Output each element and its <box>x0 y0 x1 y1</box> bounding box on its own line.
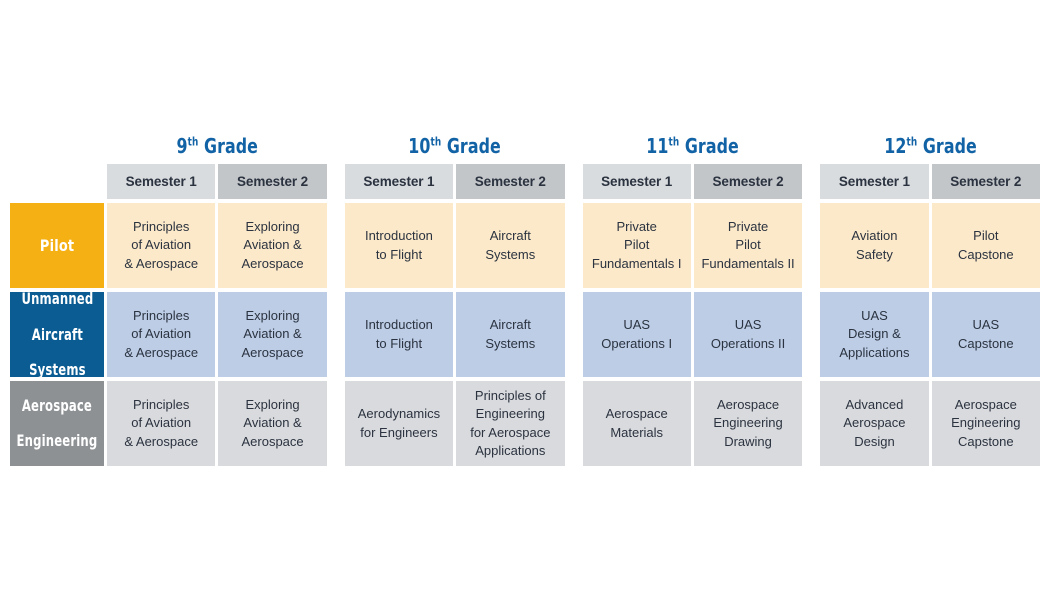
pathway-chart: 9th Grade 10th Grade 11th Grade 12th Gra… <box>0 0 1048 589</box>
semester-header-11-s1: Semester 1 <box>583 164 691 199</box>
track-group-ae-11: Aerospace Materials Aerospace Engineerin… <box>583 381 803 466</box>
grade-ordinal-12: 12 <box>884 134 906 158</box>
track-label-ae-line-1: Aerospace <box>17 397 98 415</box>
track-label-ae-lines: AerospaceEngineering <box>12 397 102 451</box>
grade-title-12: 12th Grade <box>884 136 977 156</box>
track-group-ae-10: Aerodynamics for Engineers Principles of… <box>345 381 565 466</box>
course-uas-g9s2: Exploring Aviation & Aerospace <box>218 292 326 377</box>
track-group-uas-10: Introduction to Flight Aircraft Systems <box>345 292 565 377</box>
semester-header-9-s2: Semester 2 <box>218 164 326 199</box>
course-ae-g9s1: Principles of Aviation & Aerospace <box>107 381 215 466</box>
track-label-aerospace-engineering: AerospaceEngineering <box>10 381 104 466</box>
grade-suffix-12: th <box>906 135 917 148</box>
grade-heading-10: 10th Grade <box>345 120 565 156</box>
track-group-ae-9: Principles of Aviation & Aerospace Explo… <box>107 381 327 466</box>
track-group-pilot-12: Aviation Safety Pilot Capstone <box>820 203 1040 288</box>
course-pilot-g12s1: Aviation Safety <box>820 203 928 288</box>
grade-ordinal-10: 10 <box>408 134 430 158</box>
grade-heading-11: 11th Grade <box>583 120 803 156</box>
course-ae-g9s2: Exploring Aviation & Aerospace <box>218 381 326 466</box>
course-pilot-g11s2: Private Pilot Fundamentals II <box>694 203 802 288</box>
grade-heading-9: 9th Grade <box>107 120 327 156</box>
grade-suffix-9: th <box>187 135 198 148</box>
grade-rest-9: Grade <box>198 134 258 158</box>
semester-header-row: Semester 1 Semester 2 Semester 1 Semeste… <box>10 164 1040 199</box>
course-uas-g9s1: Principles of Aviation & Aerospace <box>107 292 215 377</box>
track-label-uas-line-2: Aircraft <box>21 326 93 344</box>
track-label-uas: UnmannedAircraftSystems <box>10 292 104 377</box>
track-label-uas-line-3: Systems <box>21 361 93 379</box>
track-group-uas-9: Principles of Aviation & Aerospace Explo… <box>107 292 327 377</box>
course-ae-g10s1: Aerodynamics for Engineers <box>345 381 453 466</box>
course-uas-g10s2: Aircraft Systems <box>456 292 564 377</box>
semester-group-12: Semester 1 Semester 2 <box>820 164 1040 199</box>
track-group-ae-12: Advanced Aerospace Design Aerospace Engi… <box>820 381 1040 466</box>
grade-suffix-11: th <box>668 135 679 148</box>
track-label-uas-lines: UnmannedAircraftSystems <box>17 290 97 380</box>
semester-header-12-s1: Semester 1 <box>820 164 928 199</box>
pathway-body-grid: Pilot Principles of Aviation & Aerospace… <box>10 203 1040 466</box>
grade-rest-11: Grade <box>679 134 739 158</box>
semester-header-10-s1: Semester 1 <box>345 164 453 199</box>
course-ae-g12s2: Aerospace Engineering Capstone <box>932 381 1040 466</box>
track-group-pilot-11: Private Pilot Fundamentals I Private Pil… <box>583 203 803 288</box>
table-row: UnmannedAircraftSystems Principles of Av… <box>10 292 1040 377</box>
grade-header-row: 9th Grade 10th Grade 11th Grade 12th Gra… <box>10 120 1040 156</box>
semester-header-12-s2: Semester 2 <box>932 164 1040 199</box>
semester-header-10-s2: Semester 2 <box>456 164 564 199</box>
track-groups-pilot: Principles of Aviation & Aerospace Explo… <box>107 203 1040 288</box>
course-pilot-g10s2: Aircraft Systems <box>456 203 564 288</box>
grade-rest-12: Grade <box>917 134 977 158</box>
track-groups-aerospace-engineering: Principles of Aviation & Aerospace Explo… <box>107 381 1040 466</box>
course-uas-g11s2: UAS Operations II <box>694 292 802 377</box>
semester-header-spacer <box>10 164 107 199</box>
course-ae-g11s2: Aerospace Engineering Drawing <box>694 381 802 466</box>
semester-group-11: Semester 1 Semester 2 <box>583 164 803 199</box>
course-pilot-g9s2: Exploring Aviation & Aerospace <box>218 203 326 288</box>
track-groups-uas: Principles of Aviation & Aerospace Explo… <box>107 292 1040 377</box>
course-uas-g12s1: UAS Design & Applications <box>820 292 928 377</box>
grade-suffix-10: th <box>431 135 442 148</box>
grade-title-10: 10th Grade <box>408 136 501 156</box>
grade-rest-10: Grade <box>441 134 501 158</box>
course-ae-g11s1: Aerospace Materials <box>583 381 691 466</box>
grade-heading-group-container: 9th Grade 10th Grade 11th Grade 12th Gra… <box>107 120 1040 156</box>
semester-group-container: Semester 1 Semester 2 Semester 1 Semeste… <box>107 164 1040 199</box>
track-label-pilot: Pilot <box>10 203 104 288</box>
grade-heading-12: 12th Grade <box>820 120 1040 156</box>
course-uas-g11s1: UAS Operations I <box>583 292 691 377</box>
grade-ordinal-9: 9 <box>176 134 187 158</box>
course-pilot-g11s1: Private Pilot Fundamentals I <box>583 203 691 288</box>
course-uas-g12s2: UAS Capstone <box>932 292 1040 377</box>
table-row: AerospaceEngineering Principles of Aviat… <box>10 381 1040 466</box>
grade-header-spacer <box>10 120 107 156</box>
track-group-pilot-10: Introduction to Flight Aircraft Systems <box>345 203 565 288</box>
semester-header-11-s2: Semester 2 <box>694 164 802 199</box>
course-pilot-g10s1: Introduction to Flight <box>345 203 453 288</box>
course-pilot-g9s1: Principles of Aviation & Aerospace <box>107 203 215 288</box>
track-label-ae-line-2: Engineering <box>17 432 98 450</box>
table-row: Pilot Principles of Aviation & Aerospace… <box>10 203 1040 288</box>
course-ae-g12s1: Advanced Aerospace Design <box>820 381 928 466</box>
grade-title-11: 11th Grade <box>646 136 739 156</box>
semester-group-9: Semester 1 Semester 2 <box>107 164 327 199</box>
course-pilot-g12s2: Pilot Capstone <box>932 203 1040 288</box>
track-label-uas-line-1: Unmanned <box>21 290 93 308</box>
track-group-uas-12: UAS Design & Applications UAS Capstone <box>820 292 1040 377</box>
semester-header-9-s1: Semester 1 <box>107 164 215 199</box>
grade-title-9: 9th Grade <box>176 136 257 156</box>
track-label-pilot-line-1: Pilot <box>40 237 74 255</box>
track-group-pilot-9: Principles of Aviation & Aerospace Explo… <box>107 203 327 288</box>
semester-group-10: Semester 1 Semester 2 <box>345 164 565 199</box>
grade-ordinal-11: 11 <box>646 134 668 158</box>
course-uas-g10s1: Introduction to Flight <box>345 292 453 377</box>
track-group-uas-11: UAS Operations I UAS Operations II <box>583 292 803 377</box>
course-ae-g10s2: Principles of Engineering for Aerospace … <box>456 381 564 466</box>
